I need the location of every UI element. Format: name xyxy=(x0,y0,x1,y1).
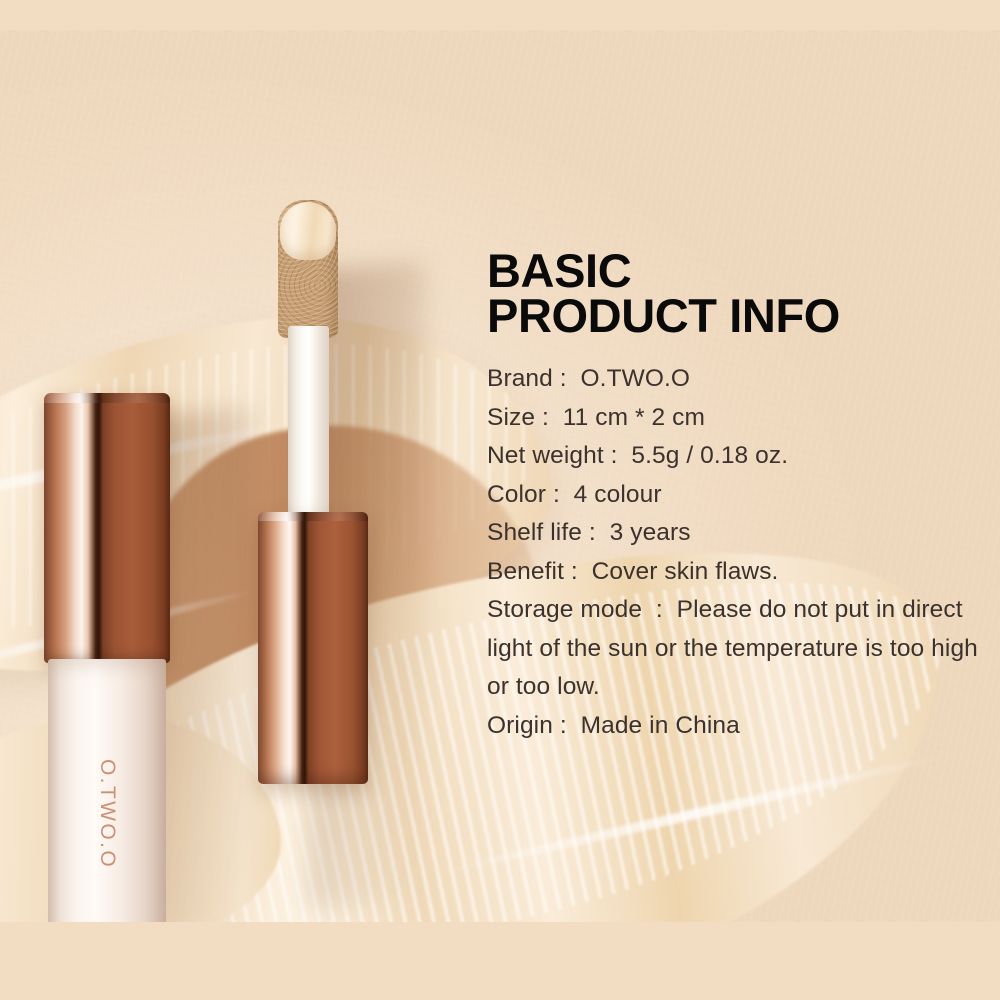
wand-stem xyxy=(288,326,329,530)
concealer-bottle-left: O.TWO.O xyxy=(44,393,170,922)
product-info-image: O.TWO.O BASIC PRODUCT INFO Brand : O.TWO… xyxy=(0,0,1000,1000)
wand-cap xyxy=(258,512,368,784)
bottle-left-body: O.TWO.O xyxy=(48,659,166,922)
wand-tip-cream-product xyxy=(280,202,336,260)
spec-list: Brand : O.TWO.O Size : 11 cm * 2 cm Net … xyxy=(487,360,987,745)
bottle-brand-print: O.TWO.O xyxy=(95,759,119,869)
spec-storage-mode: Storage mode : Please do not put in dire… xyxy=(487,591,987,707)
spec-origin: Origin : Made in China xyxy=(487,707,987,746)
applicator-wand xyxy=(256,200,406,820)
spec-color: Color : 4 colour xyxy=(487,476,987,515)
spec-size: Size : 11 cm * 2 cm xyxy=(487,399,987,438)
product-info-block: BASIC PRODUCT INFO Brand : O.TWO.O Size … xyxy=(487,248,987,745)
page-title: BASIC PRODUCT INFO xyxy=(487,248,987,338)
spec-brand: Brand : O.TWO.O xyxy=(487,360,987,399)
bottle-left-cap xyxy=(44,393,170,663)
spec-benefit: Benefit : Cover skin flaws. xyxy=(487,553,987,592)
spec-shelf-life: Shelf life : 3 years xyxy=(487,514,987,553)
page-title-line-2: PRODUCT INFO xyxy=(487,293,987,338)
spec-net-weight: Net weight : 5.5g / 0.18 oz. xyxy=(487,437,987,476)
